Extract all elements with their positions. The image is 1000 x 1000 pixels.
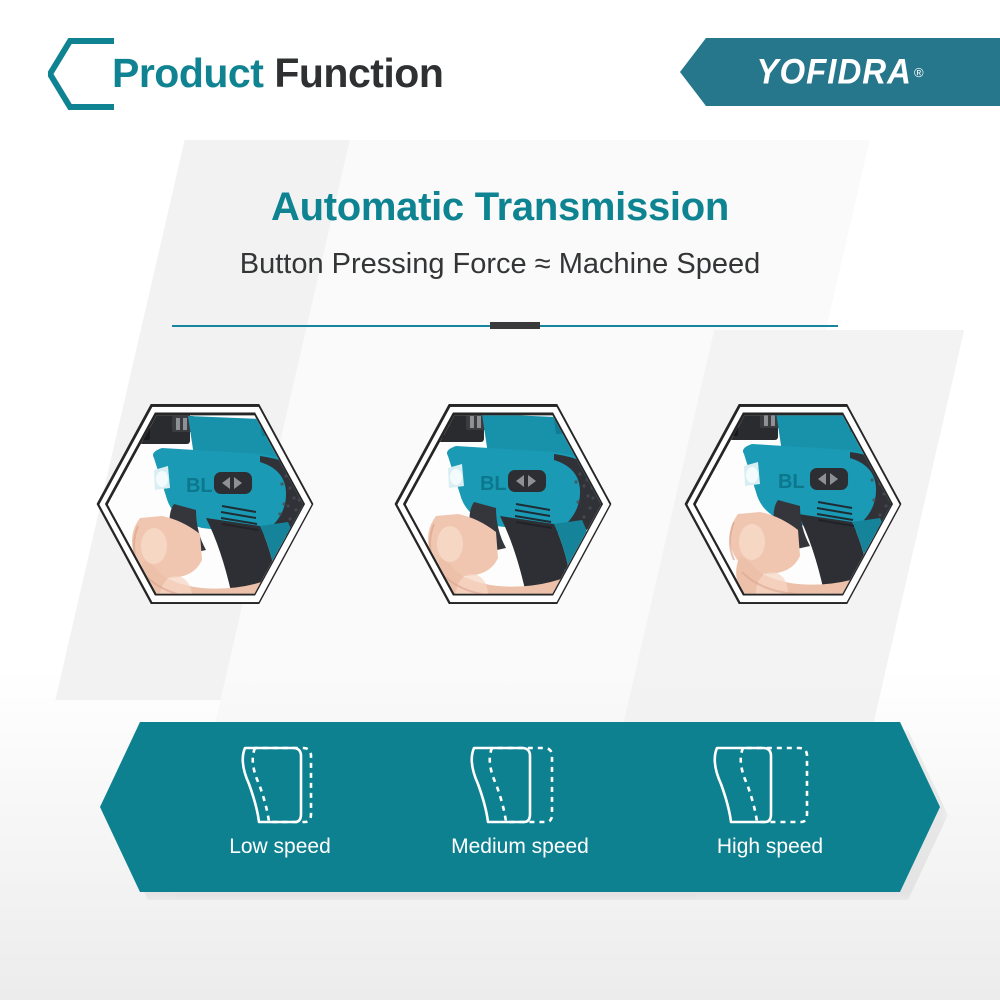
page-title-accent: Product (112, 50, 263, 96)
headline-subtitle: Button Pressing Force ≈ Machine Speed (0, 245, 1000, 283)
speed-step-medium: Medium speed (410, 740, 630, 876)
headline-block: Automatic Transmission Button Pressing F… (0, 182, 1000, 283)
trigger-medium-icon (410, 740, 630, 832)
speed-step-label: Medium speed (410, 833, 630, 861)
svg-text:BL: BL (479, 472, 506, 494)
page-title: Product Function (112, 40, 443, 106)
speed-step-label: Low speed (170, 833, 390, 861)
poster-header: Product Function YOFIDRA® (0, 0, 1000, 122)
trigger-high-icon (660, 740, 880, 832)
brand-name: YOFIDRA (756, 52, 912, 92)
speed-step-label: High speed (660, 833, 880, 861)
gallery-item-low: BT-18 BL (98, 388, 312, 620)
svg-text:BL: BL (777, 470, 804, 492)
product-function-poster: Product Function YOFIDRA® Automatic Tran… (0, 0, 1000, 1000)
gallery-item-high: BT-18 BL (686, 388, 900, 620)
speed-step-low: Low speed (170, 740, 390, 876)
registered-trademark-icon: ® (914, 65, 924, 80)
svg-text:BL: BL (185, 474, 212, 496)
speed-step-high: High speed (660, 740, 880, 876)
gallery-item-medium: BT-18 BL (396, 388, 610, 620)
section-divider (172, 322, 838, 330)
divider-accent-nub (490, 322, 540, 329)
brand-logo-badge: YOFIDRA® (680, 38, 1000, 106)
page-title-dark: Function (274, 50, 443, 96)
photo-gallery: BT-18 BL (0, 388, 1000, 620)
chevron-left-bracket-icon (48, 38, 114, 110)
speed-banner: Low speed Medium speed High speed (100, 722, 940, 892)
trigger-low-icon (170, 740, 390, 832)
headline-title: Automatic Transmission (0, 182, 1000, 232)
